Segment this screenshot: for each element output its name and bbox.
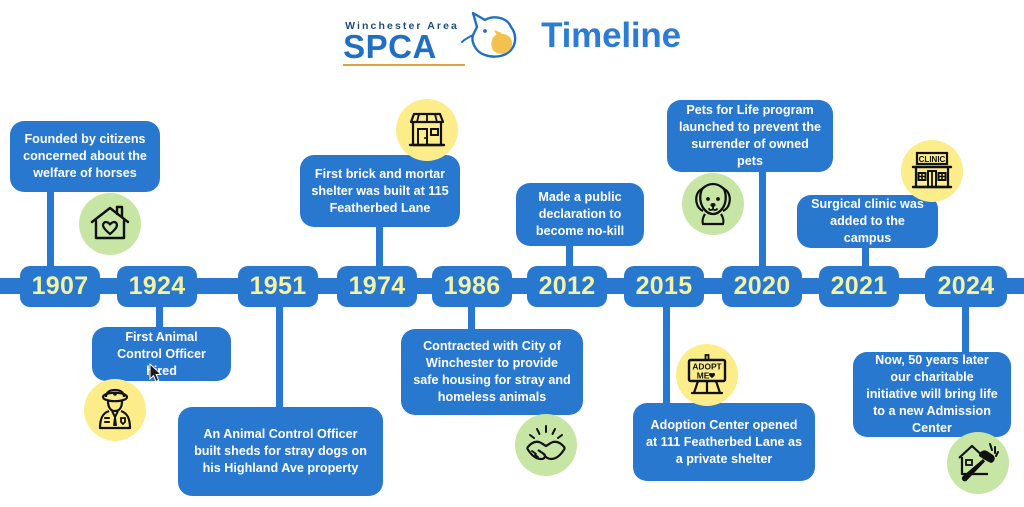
badge-clinic[interactable]: CLINIC — [901, 140, 963, 202]
year-label: 1907 — [32, 272, 89, 301]
stem-2015 — [663, 292, 670, 404]
dog-icon — [690, 181, 736, 227]
storefront-icon — [405, 109, 449, 151]
dog-cat-head-logo — [459, 11, 521, 64]
year-label: 1974 — [349, 272, 406, 301]
hammer-house-icon — [955, 440, 1001, 486]
card-text: An Animal Control Officer built sheds fo… — [189, 426, 372, 477]
year-label: 1986 — [444, 272, 501, 301]
badge-adopt-me[interactable]: ADOPT ME — [676, 344, 738, 406]
card-2024[interactable]: Now, 50 years later our charitable initi… — [853, 352, 1011, 437]
card-2015[interactable]: Adoption Center opened at 111 Featherbed… — [633, 403, 815, 481]
card-text: Now, 50 years later our charitable initi… — [864, 352, 1000, 437]
card-1986[interactable]: Contracted with City of Winchester to pr… — [401, 329, 583, 415]
police-officer-icon — [93, 388, 137, 432]
house-heart-icon — [89, 204, 131, 244]
badge-officer[interactable] — [84, 379, 146, 441]
year-pill-2024[interactable]: 2024 — [925, 266, 1007, 307]
year-label: 2021 — [831, 272, 888, 301]
card-text: Founded by citizens concerned about the … — [21, 131, 149, 182]
clinic-building-icon: CLINIC — [909, 149, 955, 193]
year-pill-1986[interactable]: 1986 — [432, 266, 512, 307]
badge-dog[interactable] — [682, 173, 744, 235]
spca-logo-text: Winchester Area SPCA — [343, 21, 465, 66]
year-label: 1951 — [250, 272, 307, 301]
year-pill-1951[interactable]: 1951 — [238, 266, 318, 307]
year-pill-2015[interactable]: 2015 — [624, 266, 704, 307]
card-1951[interactable]: An Animal Control Officer built sheds fo… — [178, 407, 383, 496]
badge-storefront[interactable] — [396, 99, 458, 161]
clinic-label: CLINIC — [919, 155, 946, 164]
card-text: Pets for Life program launched to preven… — [678, 102, 822, 170]
year-label: 1924 — [129, 272, 186, 301]
stem-1951 — [276, 292, 283, 412]
badge-handshake[interactable] — [515, 414, 577, 476]
mouse-pointer — [149, 363, 163, 383]
card-2012[interactable]: Made a public declaration to become no-k… — [516, 183, 644, 246]
year-pill-2012[interactable]: 2012 — [527, 266, 607, 307]
handshake-icon — [523, 424, 569, 466]
card-2020[interactable]: Pets for Life program launched to preven… — [667, 100, 833, 172]
spca-logo: Winchester Area SPCA — [343, 11, 521, 66]
stem-2020 — [759, 160, 766, 280]
header: Winchester Area SPCA Timeline — [0, 8, 1024, 68]
card-text: Made a public declaration to become no-k… — [527, 189, 633, 240]
card-1907[interactable]: Founded by citizens concerned about the … — [10, 121, 160, 192]
year-pill-2021[interactable]: 2021 — [819, 266, 899, 307]
card-2021[interactable]: Surgical clinic was added to the campus — [797, 195, 938, 248]
year-label: 2015 — [636, 272, 693, 301]
card-text: First brick and mortar shelter was built… — [311, 166, 449, 217]
me-label: ME — [697, 370, 710, 380]
year-label: 2012 — [539, 272, 596, 301]
card-1974[interactable]: First brick and mortar shelter was built… — [300, 155, 460, 227]
year-pill-1924[interactable]: 1924 — [117, 266, 197, 307]
timeline-infographic: Winchester Area SPCA Timeline — [0, 0, 1024, 507]
year-pill-1974[interactable]: 1974 — [337, 266, 417, 307]
logo-acronym: SPCA — [343, 30, 465, 63]
card-text: Contracted with City of Winchester to pr… — [412, 338, 572, 406]
adopt-me-sign-icon: ADOPT ME — [684, 352, 730, 398]
badge-house-heart[interactable] — [79, 193, 141, 255]
card-text: Surgical clinic was added to the campus — [808, 196, 927, 247]
year-label: 2020 — [734, 272, 791, 301]
year-label: 2024 — [938, 272, 995, 301]
year-pill-1907[interactable]: 1907 — [20, 266, 100, 307]
page-title: Timeline — [541, 16, 681, 56]
badge-construction[interactable] — [947, 432, 1009, 494]
card-text: Adoption Center opened at 111 Featherbed… — [644, 417, 804, 468]
year-pill-2020[interactable]: 2020 — [722, 266, 802, 307]
